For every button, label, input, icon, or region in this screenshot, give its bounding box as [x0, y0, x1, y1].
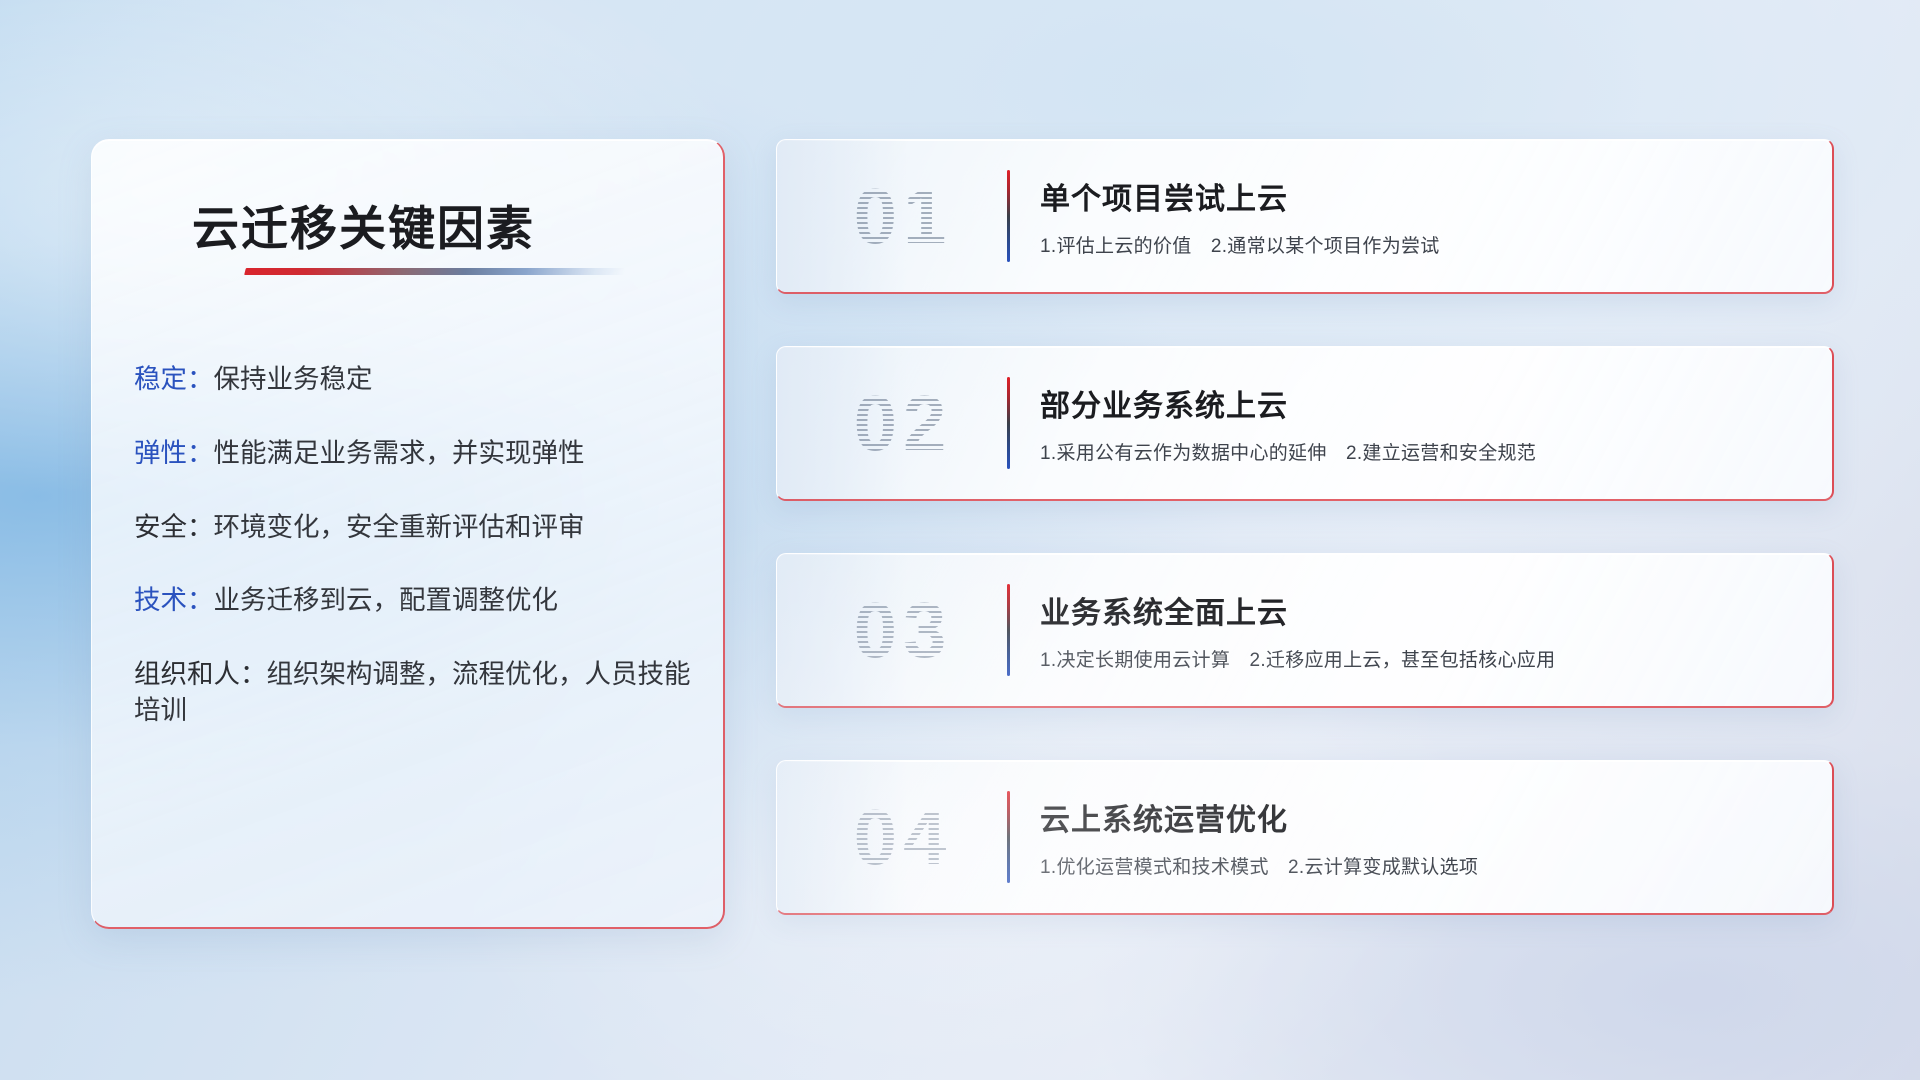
step-text-block: 单个项目尝试上云 1.评估上云的价值 2.通常以某个项目作为尝试 — [1040, 174, 1832, 258]
step-divider-bar — [1007, 170, 1010, 262]
step-text-block: 部分业务系统上云 1.采用公有云作为数据中心的延伸 2.建立运营和安全规范 — [1040, 381, 1832, 465]
factor-label: 组织和人： — [134, 659, 267, 689]
factor-text: 性能满足业务需求，并实现弹性 — [214, 438, 585, 468]
step-title: 业务系统全面上云 — [1040, 588, 1806, 632]
step-subtitle: 1.评估上云的价值 2.通常以某个项目作为尝试 — [1040, 231, 1806, 258]
step-text-block: 业务系统全面上云 1.决定长期使用云计算 2.迁移应用上云，甚至包括核心应用 — [1040, 588, 1832, 672]
step-card-04[interactable]: 04 云上系统运营优化 1.优化运营模式和技术模式 2.云计算变成默认选项 — [776, 760, 1834, 915]
list-item: 稳定：保持业务稳定 — [134, 362, 693, 398]
step-divider-bar — [1007, 584, 1010, 676]
page-title: 云迁移关键因素 — [192, 190, 535, 259]
step-number: 04 — [777, 798, 1007, 876]
factor-label: 技术： — [134, 585, 214, 615]
step-title: 部分业务系统上云 — [1040, 381, 1806, 425]
step-divider-bar — [1007, 377, 1010, 469]
step-number: 03 — [777, 591, 1007, 669]
step-card-01[interactable]: 01 单个项目尝试上云 1.评估上云的价值 2.通常以某个项目作为尝试 — [776, 139, 1834, 294]
slide-canvas: 云迁移关键因素 稳定：保持业务稳定 弹性：性能满足业务需求，并实现弹性 安全：环… — [0, 0, 1920, 1080]
step-card-02[interactable]: 02 部分业务系统上云 1.采用公有云作为数据中心的延伸 2.建立运营和安全规范 — [776, 346, 1834, 501]
step-card-03[interactable]: 03 业务系统全面上云 1.决定长期使用云计算 2.迁移应用上云，甚至包括核心应… — [776, 553, 1834, 708]
list-item: 组织和人：组织架构调整，流程优化，人员技能培训 — [134, 657, 693, 729]
step-subtitle: 1.优化运营模式和技术模式 2.云计算变成默认选项 — [1040, 852, 1806, 879]
key-factors-panel: 云迁移关键因素 稳定：保持业务稳定 弹性：性能满足业务需求，并实现弹性 安全：环… — [91, 139, 725, 929]
list-item: 安全：环境变化，安全重新评估和评审 — [134, 510, 693, 546]
factor-label: 安全： — [134, 512, 214, 542]
list-item: 弹性：性能满足业务需求，并实现弹性 — [134, 436, 693, 472]
list-item: 技术：业务迁移到云，配置调整优化 — [134, 583, 693, 619]
step-title: 单个项目尝试上云 — [1040, 174, 1806, 218]
step-subtitle: 1.采用公有云作为数据中心的延伸 2.建立运营和安全规范 — [1040, 438, 1806, 465]
step-subtitle: 1.决定长期使用云计算 2.迁移应用上云，甚至包括核心应用 — [1040, 645, 1806, 672]
factor-text: 业务迁移到云，配置调整优化 — [214, 585, 559, 615]
title-underline-rule — [244, 268, 626, 275]
step-text-block: 云上系统运营优化 1.优化运营模式和技术模式 2.云计算变成默认选项 — [1040, 795, 1832, 879]
factor-label: 稳定： — [134, 364, 214, 394]
factor-label: 弹性： — [134, 438, 214, 468]
step-number: 02 — [777, 384, 1007, 462]
step-divider-bar — [1007, 791, 1010, 883]
factor-text: 保持业务稳定 — [214, 364, 373, 394]
factor-text: 环境变化，安全重新评估和评审 — [214, 512, 585, 542]
factor-list: 稳定：保持业务稳定 弹性：性能满足业务需求，并实现弹性 安全：环境变化，安全重新… — [134, 362, 693, 767]
step-number: 01 — [777, 177, 1007, 255]
step-title: 云上系统运营优化 — [1040, 795, 1806, 839]
migration-steps-list: 01 单个项目尝试上云 1.评估上云的价值 2.通常以某个项目作为尝试 02 部… — [776, 139, 1834, 967]
